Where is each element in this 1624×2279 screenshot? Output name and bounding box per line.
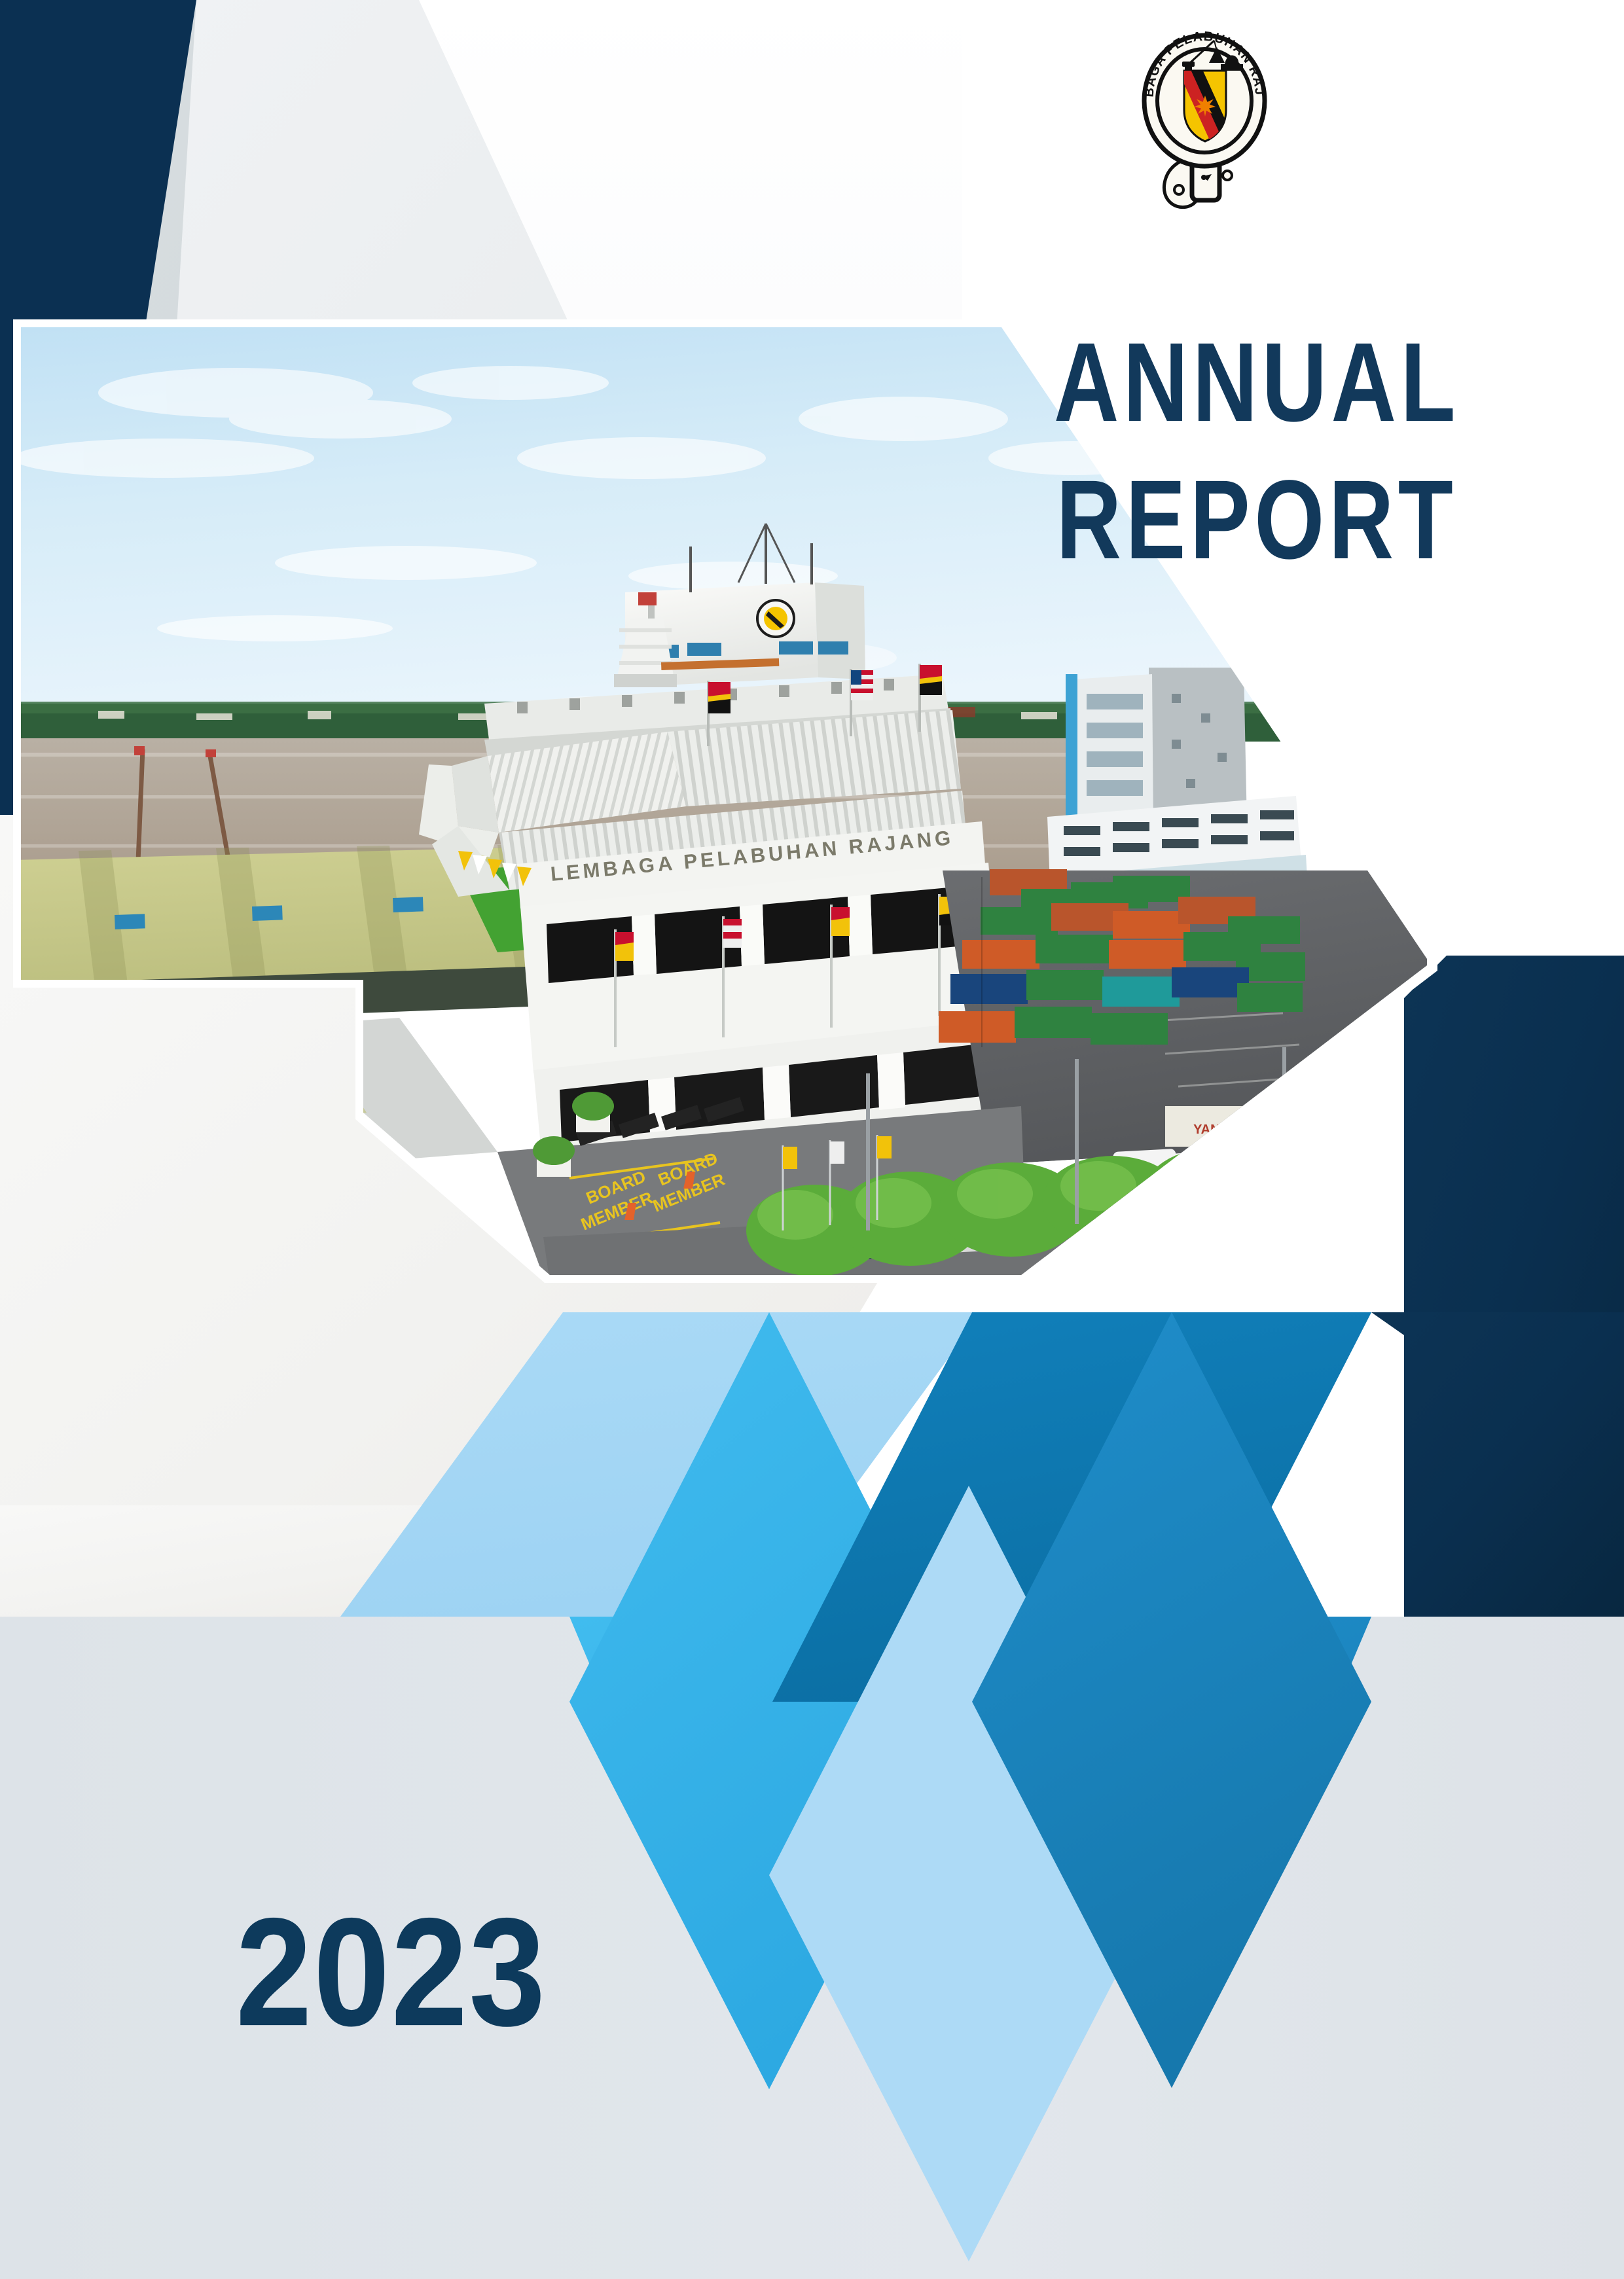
svg-text:MEMBER: MEMBER — [578, 1187, 656, 1234]
cover-year: 2023 — [236, 1884, 547, 2061]
lembaga-pelabuhan-rajang-logo: LEMBAGA PELABUHAN RAJANG — [1136, 18, 1273, 234]
title-line-annual: ANNUAL — [983, 303, 1531, 463]
annual-report-cover-page: LEMBAGA PELABUHAN RAJANG — [0, 0, 1624, 2279]
cover-title: ANNUAL REPORT — [962, 314, 1551, 589]
svg-text:SIN YANG: SIN YANG — [1224, 1246, 1375, 1276]
svg-text:YANG MING: YANG MING — [1193, 1122, 1268, 1137]
svg-text:BOARD: BOARD — [655, 1148, 721, 1190]
title-line-report: REPORT — [983, 440, 1531, 600]
svg-text:MEMBER: MEMBER — [650, 1169, 728, 1215]
svg-text:BOARD: BOARD — [583, 1166, 649, 1208]
svg-text:LEMBAGA PELABUHAN RAJANG: LEMBAGA PELABUHAN RAJANG — [550, 826, 955, 886]
